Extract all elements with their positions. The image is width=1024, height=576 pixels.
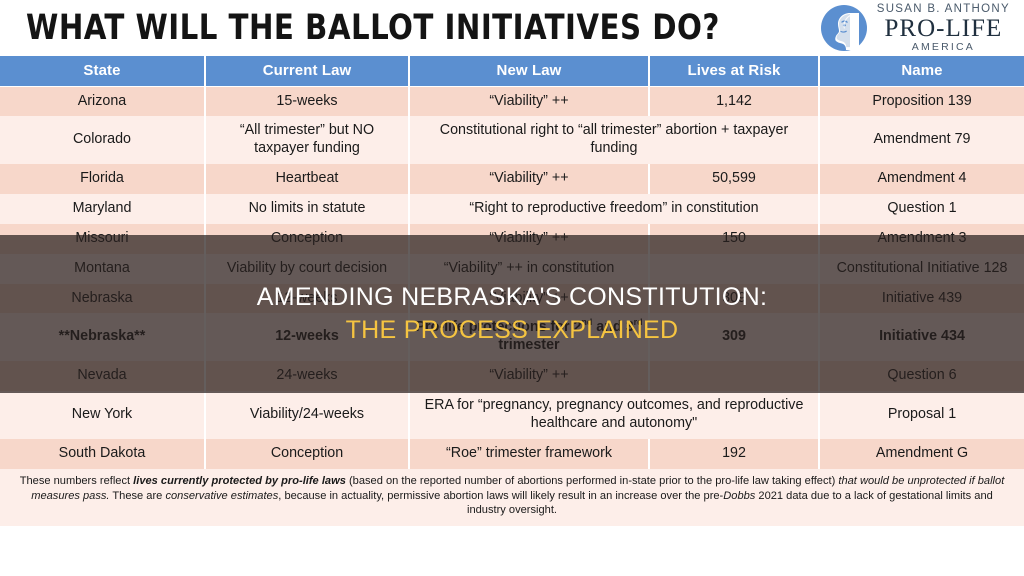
logo-wordmark: SUSAN B. ANTHONY PRO-LIFE AMERICA [877, 4, 1010, 53]
column-header-name[interactable]: Name [819, 56, 1024, 86]
cell-name: Proposal 1 [819, 391, 1024, 439]
column-header-current-law[interactable]: Current Law [205, 56, 409, 86]
cell-lives-at-risk: 150 [649, 224, 819, 254]
cell-current-law: Heartbeat [205, 164, 409, 194]
cell-new-law: “Viability” ++ [409, 164, 649, 194]
footnote-italic-2: conservative estimates [165, 490, 278, 502]
cell-new-law: “Viability” ++ [409, 361, 649, 391]
column-header-new-law[interactable]: New Law [409, 56, 649, 86]
table-row[interactable]: MontanaViability by court decision“Viabi… [0, 254, 1024, 284]
logo-line-3: AMERICA [912, 42, 975, 53]
footnote-part-3: These are [110, 490, 166, 502]
cell-name: Question 6 [819, 361, 1024, 391]
cell-new-law: ERA for “pregnancy, pregnancy outcomes, … [409, 391, 819, 439]
page-title: WHAT WILL THE BALLOT INITIATIVES DO? [0, 8, 762, 48]
cell-lives-at-risk [649, 361, 819, 391]
cell-lives-at-risk: 1,142 [649, 86, 819, 116]
table-body: Arizona15-weeks“Viability” ++1,142Propos… [0, 86, 1024, 469]
cell-name: Amendment 3 [819, 224, 1024, 254]
cell-lives-at-risk: 192 [649, 439, 819, 469]
table-header-row: State Current Law New Law Lives at Risk … [0, 56, 1024, 86]
cell-name: Proposition 139 [819, 86, 1024, 116]
cell-current-law: Conception [205, 224, 409, 254]
table-row[interactable]: New YorkViability/24-weeksERA for “pregn… [0, 391, 1024, 439]
cell-state: New York [0, 391, 205, 439]
table-row[interactable]: MissouriConception“Viability” ++150Amend… [0, 224, 1024, 254]
cell-name: Amendment 79 [819, 116, 1024, 164]
infographic-page: WHAT WILL THE BALLOT INITIATIVES DO? SUS… [0, 0, 1024, 576]
organization-logo: SUSAN B. ANTHONY PRO-LIFE AMERICA [820, 4, 1024, 53]
cell-state: Colorado [0, 116, 205, 164]
cell-name: Amendment 4 [819, 164, 1024, 194]
table-row[interactable]: Nevada24-weeks“Viability” ++Question 6 [0, 361, 1024, 391]
susan-b-anthony-portrait-icon [820, 4, 868, 52]
logo-line-2: PRO-LIFE [884, 16, 1002, 41]
logo-line-1: SUSAN B. ANTHONY [877, 4, 1010, 16]
cell-current-law: 12-weeks [205, 284, 409, 314]
cell-state: Nebraska [0, 284, 205, 314]
table-row[interactable]: Colorado“All trimester” but NO taxpayer … [0, 116, 1024, 164]
cell-lives-at-risk [649, 254, 819, 284]
footnote-part-2: (based on the reported number of abortio… [346, 475, 839, 487]
cell-state: Florida [0, 164, 205, 194]
cell-current-law: 15-weeks [205, 86, 409, 116]
table-row[interactable]: FloridaHeartbeat“Viability” ++50,599Amen… [0, 164, 1024, 194]
cell-name: Initiative 434 [819, 313, 1024, 361]
cell-lives-at-risk: 309 [649, 284, 819, 314]
column-header-state[interactable]: State [0, 56, 205, 86]
cell-lives-at-risk: 309 [649, 313, 819, 361]
cell-state: Arizona [0, 86, 205, 116]
cell-current-law: “All trimester” but NO taxpayer funding [205, 116, 409, 164]
cell-new-law: “Right to reproductive freedom” in const… [409, 194, 819, 224]
cell-lives-at-risk: 50,599 [649, 164, 819, 194]
cell-new-law: Pro-life protections for 2nd and 3rd tri… [409, 313, 649, 361]
table-row[interactable]: **Nebraska**12-weeksPro-life protections… [0, 313, 1024, 361]
table-row[interactable]: MarylandNo limits in statute“Right to re… [0, 194, 1024, 224]
cell-new-law: “Viability” ++ [409, 224, 649, 254]
table-row[interactable]: Arizona15-weeks“Viability” ++1,142Propos… [0, 86, 1024, 116]
table-header: State Current Law New Law Lives at Risk … [0, 56, 1024, 86]
cell-state: Missouri [0, 224, 205, 254]
cell-name: Question 1 [819, 194, 1024, 224]
cell-current-law: Viability/24-weeks [205, 391, 409, 439]
footnote-emphasis-1: lives currently protected by pro-life la… [133, 475, 346, 487]
cell-state: South Dakota [0, 439, 205, 469]
cell-current-law: 24-weeks [205, 361, 409, 391]
cell-current-law: Conception [205, 439, 409, 469]
cell-state: Nevada [0, 361, 205, 391]
cell-name: Constitutional Initiative 128 [819, 254, 1024, 284]
column-header-lives-at-risk[interactable]: Lives at Risk [649, 56, 819, 86]
cell-current-law: Viability by court decision [205, 254, 409, 284]
cell-state: **Nebraska** [0, 313, 205, 361]
footnote-part-4: , because in actuality, permissive abort… [278, 490, 723, 502]
cell-new-law: “Viability” ++ in constitution [409, 254, 649, 284]
cell-new-law: “Viability” ++ [409, 86, 649, 116]
cell-current-law: 12-weeks [205, 313, 409, 361]
cell-state: Montana [0, 254, 205, 284]
table-row[interactable]: South DakotaConception“Roe” trimester fr… [0, 439, 1024, 469]
footnote: These numbers reflect lives currently pr… [0, 469, 1024, 527]
footnote-part-1: These numbers reflect [20, 475, 133, 487]
footnote-italic-3: Dobbs [723, 490, 755, 502]
cell-new-law: “Roe” trimester framework [409, 439, 649, 469]
table-row[interactable]: Nebraska12-weeks“Viability” ++309Initiat… [0, 284, 1024, 314]
cell-name: Amendment G [819, 439, 1024, 469]
header-bar: WHAT WILL THE BALLOT INITIATIVES DO? SUS… [0, 0, 1024, 56]
ballot-initiatives-table: State Current Law New Law Lives at Risk … [0, 56, 1024, 469]
cell-name: Initiative 439 [819, 284, 1024, 314]
cell-state: Maryland [0, 194, 205, 224]
cell-new-law: Constitutional right to “all trimester” … [409, 116, 819, 164]
cell-current-law: No limits in statute [205, 194, 409, 224]
cell-new-law: “Viability” ++ [409, 284, 649, 314]
